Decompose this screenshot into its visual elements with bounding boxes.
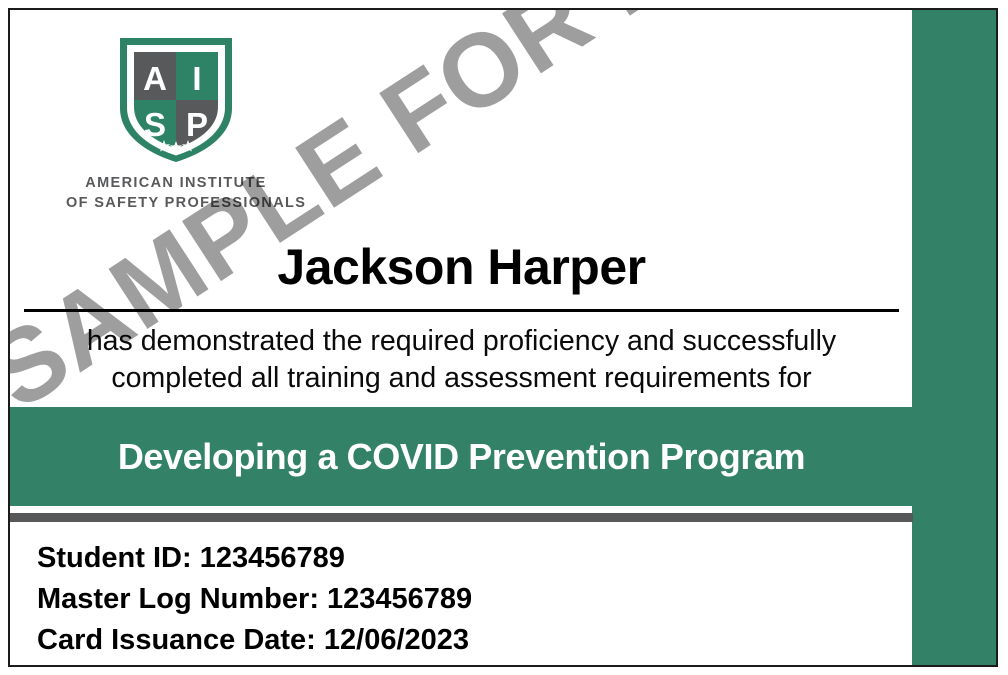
svg-text:I: I <box>192 60 201 97</box>
right-green-accent-band <box>912 10 996 665</box>
certificate-content-column: A I S P AMERICAN INSTITUTE OF SAFETY PRO… <box>10 10 913 665</box>
recipient-name: Jackson Harper <box>10 238 913 296</box>
organization-name-line2: OF SAFETY PROFESSIONALS <box>66 193 286 213</box>
course-title: Developing a COVID Prevention Program <box>118 436 805 478</box>
aisp-shield-icon: A I S P <box>112 32 240 164</box>
detail-card-issuance-date: Card Issuance Date: 12/06/2023 <box>37 620 897 661</box>
certificate-card: A I S P AMERICAN INSTITUTE OF SAFETY PRO… <box>8 8 998 667</box>
course-title-band: Developing a COVID Prevention Program <box>10 407 913 506</box>
detail-master-log-number: Master Log Number: 123456789 <box>37 579 897 620</box>
organization-name: AMERICAN INSTITUTE OF SAFETY PROFESSIONA… <box>66 173 286 213</box>
certificate-details-list: Student ID: 123456789 Master Log Number:… <box>37 538 897 662</box>
statement-line-1: has demonstrated the required proficienc… <box>10 323 913 360</box>
statement-line-2: completed all training and assessment re… <box>10 360 913 397</box>
svg-text:S: S <box>144 106 166 143</box>
certificate-statement: has demonstrated the required proficienc… <box>10 323 913 397</box>
svg-text:P: P <box>186 106 208 143</box>
detail-student-id: Student ID: 123456789 <box>37 538 897 579</box>
svg-text:A: A <box>143 60 167 97</box>
gray-divider-bar <box>10 513 913 522</box>
organization-logo-block: A I S P AMERICAN INSTITUTE OF SAFETY PRO… <box>66 32 286 213</box>
organization-name-line1: AMERICAN INSTITUTE <box>66 173 286 193</box>
name-underline-rule <box>24 309 899 312</box>
